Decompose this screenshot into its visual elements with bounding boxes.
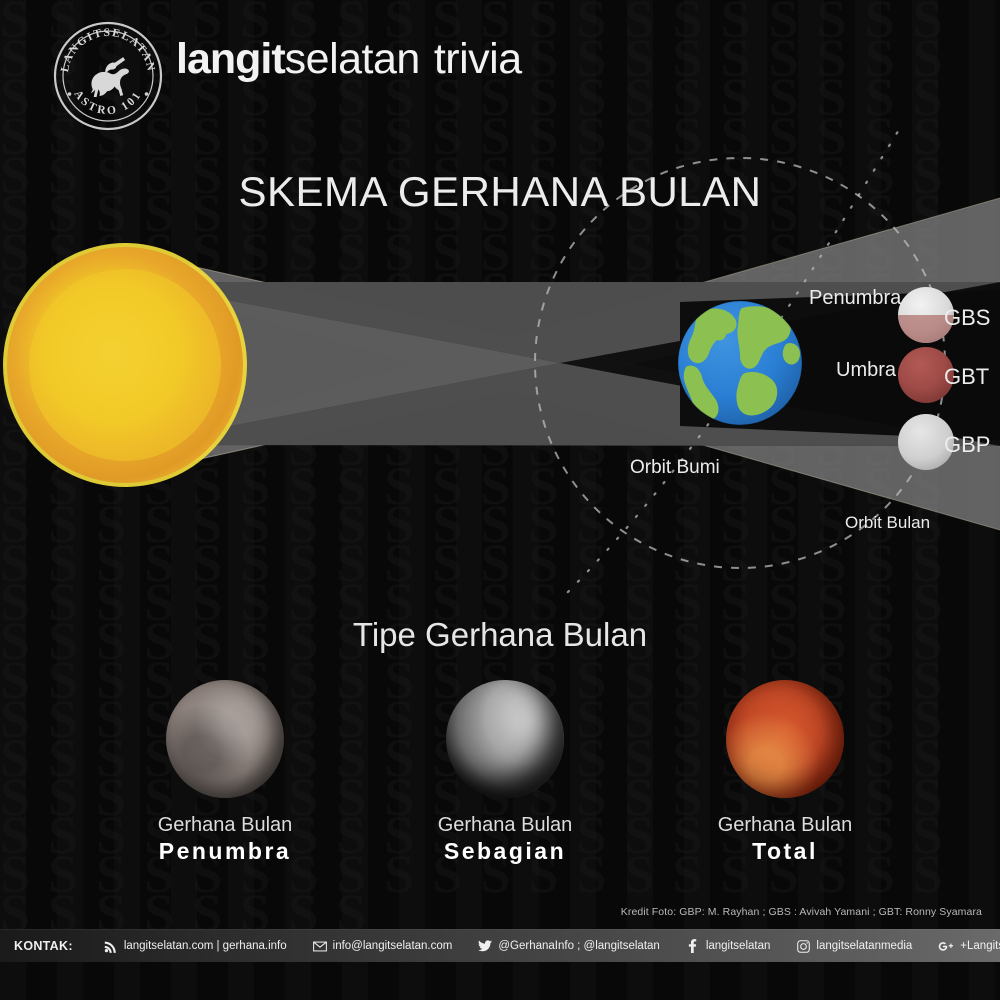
types-section-title: Tipe Gerhana Bulan — [0, 616, 1000, 654]
type-label-line1-total: Gerhana Bulan — [670, 814, 900, 837]
brand-langit: langit — [176, 35, 285, 83]
type-label-line2-total: Total — [670, 837, 900, 867]
facebook-icon — [686, 939, 700, 953]
envelope-icon — [313, 939, 327, 953]
header: LANGITSELATAN ASTRO 101 langitselatantri… — [0, 0, 1000, 140]
twitter-icon — [478, 939, 492, 953]
footer-item-email-text: info@langitselatan.com — [333, 940, 453, 952]
footer-item-googleplus[interactable]: +LangitselatanMedia — [925, 930, 1000, 963]
eclipse-type-card-sebagian: Gerhana Bulan Sebagian — [390, 680, 620, 875]
instagram-icon — [796, 939, 810, 953]
label-orbit-bumi: Orbit Bumi — [630, 457, 720, 478]
footer-item-website-text: langitselatan.com | gerhana.info — [124, 940, 287, 952]
label-gbp: GBP — [944, 432, 990, 457]
total-eclipse-moon-image — [726, 680, 844, 798]
footer-item-googleplus-text: +LangitselatanMedia — [960, 940, 1000, 952]
type-label-line1-sebagian: Gerhana Bulan — [390, 814, 620, 837]
brand-selatan: selatan — [285, 35, 420, 83]
footer-item-website[interactable]: langitselatan.com | gerhana.info — [91, 930, 300, 963]
sun — [3, 243, 247, 487]
footer-item-instagram-text: langitselatanmedia — [816, 940, 912, 952]
brand-title: langitselatantrivia — [176, 38, 522, 81]
type-label-line2-penumbra: Penumbra — [110, 837, 340, 867]
footer-item-instagram[interactable]: langitselatanmedia — [783, 930, 925, 963]
footer-item-facebook-text: langitselatan — [706, 940, 771, 952]
eclipse-types-list: Gerhana Bulan Penumbra Gerhana Bulan Seb… — [110, 680, 900, 875]
footer-item-facebook[interactable]: langitselatan — [673, 930, 784, 963]
label-umbra: Umbra — [836, 359, 897, 381]
contact-footer-bar: KONTAK: langitselatan.com | gerhana.info… — [0, 929, 1000, 962]
footer-item-twitter-text: @GerhanaInfo ; @langitselatan — [498, 940, 659, 952]
footer-item-email[interactable]: info@langitselatan.com — [300, 930, 466, 963]
partial-eclipse-moon-image — [446, 680, 564, 798]
type-label-line1-penumbra: Gerhana Bulan — [110, 814, 340, 837]
label-orbit-bulan: Orbit Bulan — [845, 513, 930, 532]
brand-trivia: trivia — [434, 35, 522, 83]
langitselatan-seal-logo: LANGITSELATAN ASTRO 101 — [52, 20, 164, 132]
googleplus-icon — [938, 939, 954, 953]
eclipse-type-card-total: Gerhana Bulan Total — [670, 680, 900, 875]
photo-credit: Kredit Foto: GBP: M. Rayhan ; GBS : Aviv… — [621, 906, 982, 918]
lunar-eclipse-scheme-diagram: Penumbra Umbra GBS GBT GBP Orbit Bumi Or… — [0, 130, 1000, 600]
eclipse-type-card-penumbra: Gerhana Bulan Penumbra — [110, 680, 340, 875]
penumbral-eclipse-moon-image — [166, 680, 284, 798]
footer-kontak-label: KONTAK: — [0, 930, 91, 963]
rss-icon — [104, 939, 118, 953]
label-penumbra: Penumbra — [809, 287, 902, 309]
label-gbs: GBS — [944, 305, 990, 330]
type-label-line2-sebagian: Sebagian — [390, 837, 620, 867]
footer-item-twitter[interactable]: @GerhanaInfo ; @langitselatan — [465, 930, 672, 963]
earth — [678, 301, 802, 425]
label-gbt: GBT — [944, 364, 989, 389]
